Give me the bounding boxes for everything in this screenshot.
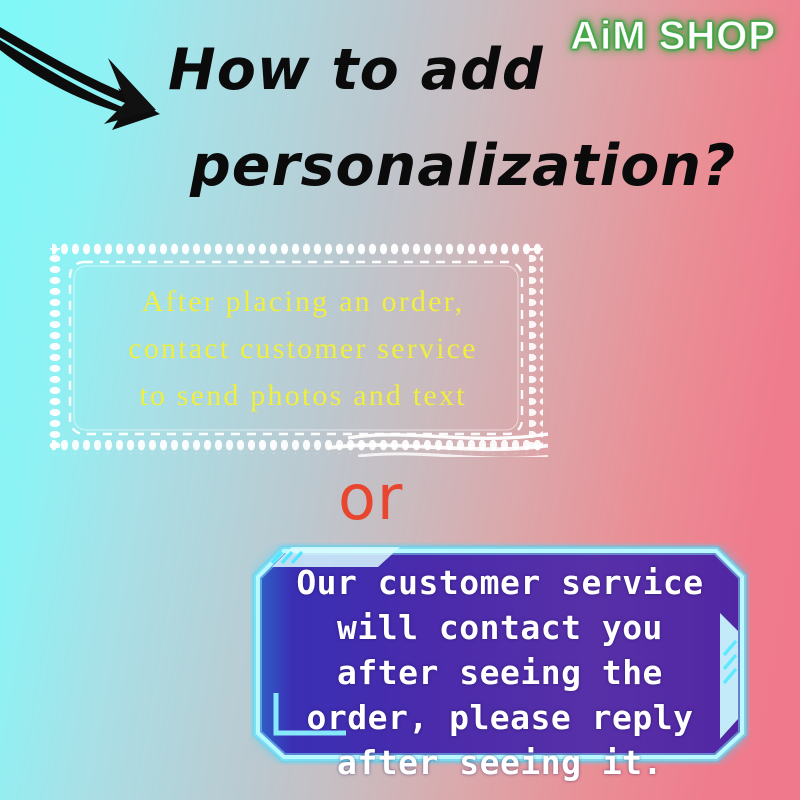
or-divider-label: or xyxy=(338,467,403,529)
poster-canvas: AiM SHOP How to add personalization? xyxy=(0,0,800,800)
framed-note-text: After placing an order, contact customer… xyxy=(78,278,528,428)
hud-line-3: after seeing the xyxy=(250,650,750,695)
framed-note-line-3: to send photos and text xyxy=(78,372,528,419)
headline-line-1: How to add xyxy=(168,37,544,103)
headline-line-2: personalization? xyxy=(190,118,788,214)
curved-arrow-right-icon xyxy=(0,18,190,138)
hud-line-5: after seeing it. xyxy=(250,740,750,785)
hud-line-1: Our customer service xyxy=(250,560,750,605)
framed-note-line-2: contact customer service xyxy=(78,325,528,372)
hud-line-2: will contact you xyxy=(250,605,750,650)
page-title: How to add personalization? xyxy=(168,22,788,214)
hud-line-4: order, please reply xyxy=(250,695,750,740)
framed-note-line-1: After placing an order, xyxy=(78,278,528,325)
hud-panel-text: Our customer service will contact you af… xyxy=(250,560,750,785)
